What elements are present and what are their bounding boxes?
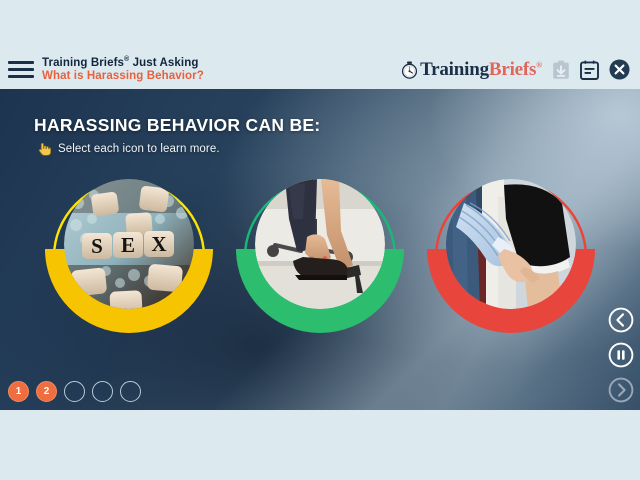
sex-tiles-photo: S E X [64,179,194,309]
svg-text:S: S [91,234,103,258]
svg-text:X: X [151,232,166,256]
node-verbal[interactable]: S E X [36,161,222,341]
close-icon[interactable] [609,59,630,80]
node-physical-image [446,179,576,309]
course-player: Training Briefs® Just Asking What is Har… [0,0,640,480]
course-title-tail: Just Asking [129,57,198,69]
progress-dot[interactable]: 4 [92,381,113,402]
lesson-title: What is Harassing Behavior? [42,70,204,83]
slide-stage: HARASSING BEHAVIOR CAN BE: Select each i… [0,89,640,410]
progress-dot[interactable]: 3 [64,381,85,402]
hamburger-bar [8,61,34,64]
stopwatch-icon [401,61,418,79]
logo-registered-mark: ® [536,60,542,69]
download-icon[interactable] [552,60,570,80]
progress-dot[interactable]: 5 [120,381,141,402]
logo-word-training: Training [420,59,489,80]
feet-under-desk-photo [255,179,385,309]
page-title: HARASSING BEHAVIOR CAN BE: [34,115,321,136]
node-physical[interactable] [418,161,604,341]
course-title-main: Training Briefs [42,57,124,69]
brand-and-tools: TrainingBriefs® [401,59,640,81]
logo-word-briefs: Briefs [489,59,536,80]
progress-dots: 1 2 3 4 5 [8,381,141,402]
unwanted-touch-photo [446,179,576,309]
player-controls [608,307,634,403]
instruction-line: Select each icon to learn more. [36,141,220,156]
next-button[interactable] [608,377,634,403]
node-verbal-image: S E X [64,179,194,309]
node-nonverbal[interactable] [227,161,413,341]
logo-wordmark: TrainingBriefs® [420,59,542,81]
previous-button[interactable] [608,307,634,333]
svg-text:E: E [121,233,135,257]
pause-button[interactable] [608,342,634,368]
progress-dot[interactable]: 1 [8,381,29,402]
hamburger-bar [8,68,34,71]
course-title: Training Briefs® Just Asking [42,56,204,70]
notes-icon[interactable] [580,60,599,80]
hand-pointer-icon [36,141,51,156]
hamburger-bar [8,75,34,78]
progress-dot[interactable]: 2 [36,381,57,402]
interactive-nodes: S E X [0,161,640,341]
instruction-text: Select each icon to learn more. [58,143,220,155]
course-titles: Training Briefs® Just Asking What is Har… [42,56,204,83]
node-nonverbal-image [255,179,385,309]
top-bar: Training Briefs® Just Asking What is Har… [0,50,640,89]
training-briefs-logo: TrainingBriefs® [401,59,542,81]
hamburger-menu-icon[interactable] [4,61,38,78]
